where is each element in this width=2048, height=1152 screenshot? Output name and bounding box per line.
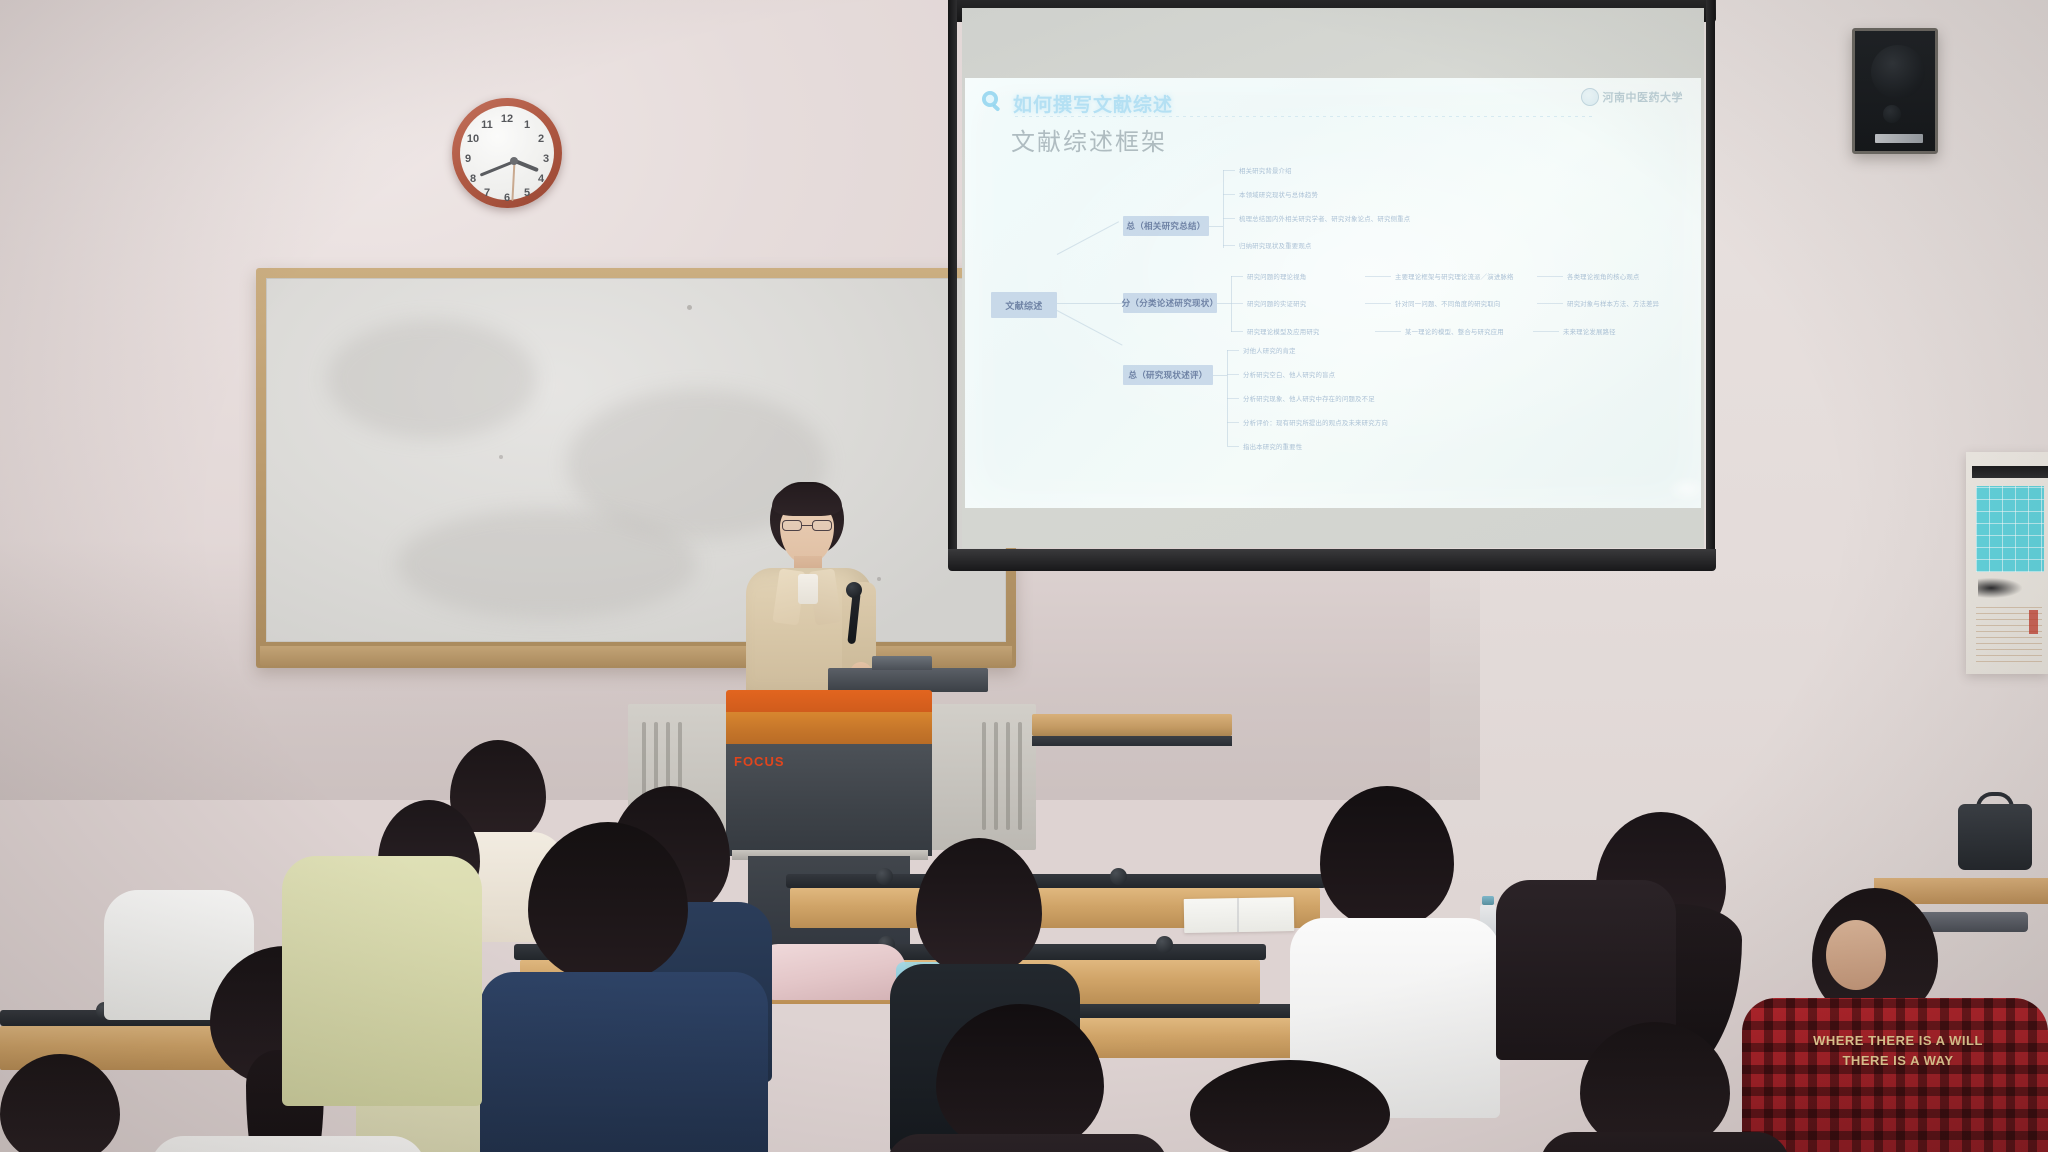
mindmap-chain-cell: 某一理论的模型、整合与研究应用 — [1405, 327, 1504, 336]
desk-knob — [1110, 868, 1127, 885]
clock-numeral: 7 — [479, 187, 495, 199]
mindmap-leaf: 相关研究背景介绍 — [1239, 166, 1292, 175]
mindmap-chain-cell: 未来理论发展路径 — [1563, 327, 1616, 336]
screen-bottom-weight-bar — [948, 549, 1716, 571]
speaker-brand-badge — [1875, 134, 1923, 143]
wall-clock: 12 1 2 3 4 5 6 7 8 9 10 11 — [452, 98, 562, 208]
projector-hotspot — [1667, 476, 1701, 502]
mindmap-chain-cell: 研究对象与样本方法、方法差异 — [1567, 299, 1659, 308]
lectern-laptop-lid[interactable] — [872, 656, 932, 670]
screen-right-edge — [1706, 0, 1715, 564]
poster-ink-brush — [1978, 578, 2022, 598]
poster-header-bar — [1972, 466, 2048, 478]
mindmap-root-node: 文献综述 — [991, 292, 1057, 318]
lectern-brand-label: FOCUS — [734, 754, 785, 769]
lectern-control-panel[interactable]: FOCUS — [726, 744, 932, 856]
desk-knob — [1156, 936, 1173, 953]
lectern-top-edge — [726, 690, 932, 714]
clock-center-pin — [510, 157, 518, 165]
mindmap-chain-cell: 各类理论视角的核心观点 — [1567, 272, 1640, 281]
slide-header: 如何撰写文献综述 河南中医药大学 — [979, 86, 1687, 118]
eyeglasses-icon — [782, 520, 832, 531]
clock-numeral: 3 — [538, 153, 554, 165]
mindmap-chain-cell: 主要理论框架与研究理论流派／演进脉络 — [1395, 272, 1514, 281]
mindmap-chain-cell: 针对同一问题、不同角度的研究取向 — [1395, 299, 1500, 308]
university-logo-mark — [1581, 88, 1599, 106]
mindmap-chain-cell: 研究问题的理论视角 — [1247, 272, 1306, 281]
mindmap-branch-node: 分（分类论述研究现状） — [1123, 293, 1217, 313]
folded-jacket — [756, 944, 906, 1000]
wall-poster — [1966, 452, 2048, 674]
student-hand-raised — [1826, 920, 1886, 990]
university-logo-text: 河南中医药大学 — [1603, 89, 1684, 105]
slide-header-rule — [1015, 116, 1595, 117]
speaker-tweeter — [1883, 105, 1901, 123]
mindmap-diagram: 文献综述 总（相关研究总结） 相关研究背景介绍 本领域研究现状与总体趋势 梳理总… — [965, 150, 1701, 500]
mindmap-leaf: 分析研究现象、他人研究中存在的问题及不足 — [1243, 394, 1375, 403]
mindmap-branch-node: 总（研究现状述评） — [1123, 365, 1213, 385]
mindmap-leaf: 梳理总结国内外相关研究学者、研究对象论点、研究侧重点 — [1239, 214, 1410, 223]
desk-knob — [876, 868, 893, 885]
clock-numeral: 1 — [519, 119, 535, 131]
slide-header-title: 如何撰写文献综述 — [1013, 90, 1173, 117]
projector-screen: 如何撰写文献综述 河南中医药大学 文献综述框架 文献综述 总（相关研究总结） — [962, 8, 1704, 548]
shirt-text-line1: WHERE THERE IS A WILL — [1764, 1034, 2032, 1049]
clock-numeral: 2 — [533, 133, 549, 145]
mindmap-chain-cell: 研究理论模型及应用研究 — [1247, 327, 1320, 336]
mindmap-leaf: 归纳研究现状及重要观点 — [1239, 241, 1312, 250]
clock-face: 12 1 2 3 4 5 6 7 8 9 10 11 — [460, 106, 554, 200]
mindmap-branch-node: 总（相关研究总结） — [1123, 216, 1209, 236]
mindmap-leaf: 分析评价：现有研究所提出的观点及未来研究方向 — [1243, 418, 1388, 427]
clock-numeral: 11 — [479, 119, 495, 131]
clock-numeral: 8 — [465, 173, 481, 185]
lectern-laptop[interactable] — [828, 668, 988, 692]
side-table-underframe — [1032, 736, 1232, 746]
search-magnifier-icon — [979, 89, 1005, 115]
side-table — [1032, 714, 1232, 736]
university-logo: 河南中医药大学 — [1581, 88, 1684, 106]
mindmap-leaf: 本领域研究现状与总体趋势 — [1239, 190, 1318, 199]
clock-numeral: 10 — [465, 133, 481, 145]
clock-numeral: 9 — [460, 153, 476, 165]
shirt-text-line2: THERE IS A WAY — [1764, 1054, 2032, 1069]
mindmap-leaf: 分析研究空白、他人研究的盲点 — [1243, 370, 1335, 379]
open-notebook — [1184, 897, 1295, 933]
lectern-right-panel — [928, 704, 1036, 850]
presentation-slide: 如何撰写文献综述 河南中医药大学 文献综述框架 文献综述 总（相关研究总结） — [965, 78, 1701, 508]
whiteboard-surface[interactable] — [266, 278, 1006, 642]
mindmap-chain-cell: 研究问题的实证研究 — [1247, 299, 1306, 308]
mindmap-leaf: 指出本研究的重要性 — [1243, 442, 1302, 451]
backpack — [1958, 804, 2032, 870]
speaker-woofer — [1871, 45, 1925, 99]
wall-speaker — [1852, 28, 1938, 154]
poster-grid-table — [1976, 486, 2044, 572]
desk-item-dark — [1918, 912, 2028, 932]
whiteboard[interactable] — [256, 268, 1016, 668]
classroom-scene: 12 1 2 3 4 5 6 7 8 9 10 11 — [0, 0, 2048, 1152]
notebook-spine — [1237, 898, 1239, 932]
screen-left-edge — [948, 0, 957, 564]
presenter-inner-shirt — [798, 574, 818, 604]
clock-numeral: 4 — [533, 173, 549, 185]
lectern-wood-front — [726, 712, 932, 744]
clock-numeral: 5 — [519, 187, 535, 199]
clock-numeral: 12 — [499, 113, 515, 125]
poster-red-seal — [2029, 610, 2038, 634]
microphone-head-icon — [846, 582, 862, 598]
desk-rail — [786, 874, 1326, 888]
bottle-cap — [1482, 896, 1494, 905]
presenter — [724, 482, 894, 697]
mindmap-leaf: 对他人研究的肯定 — [1243, 346, 1296, 355]
